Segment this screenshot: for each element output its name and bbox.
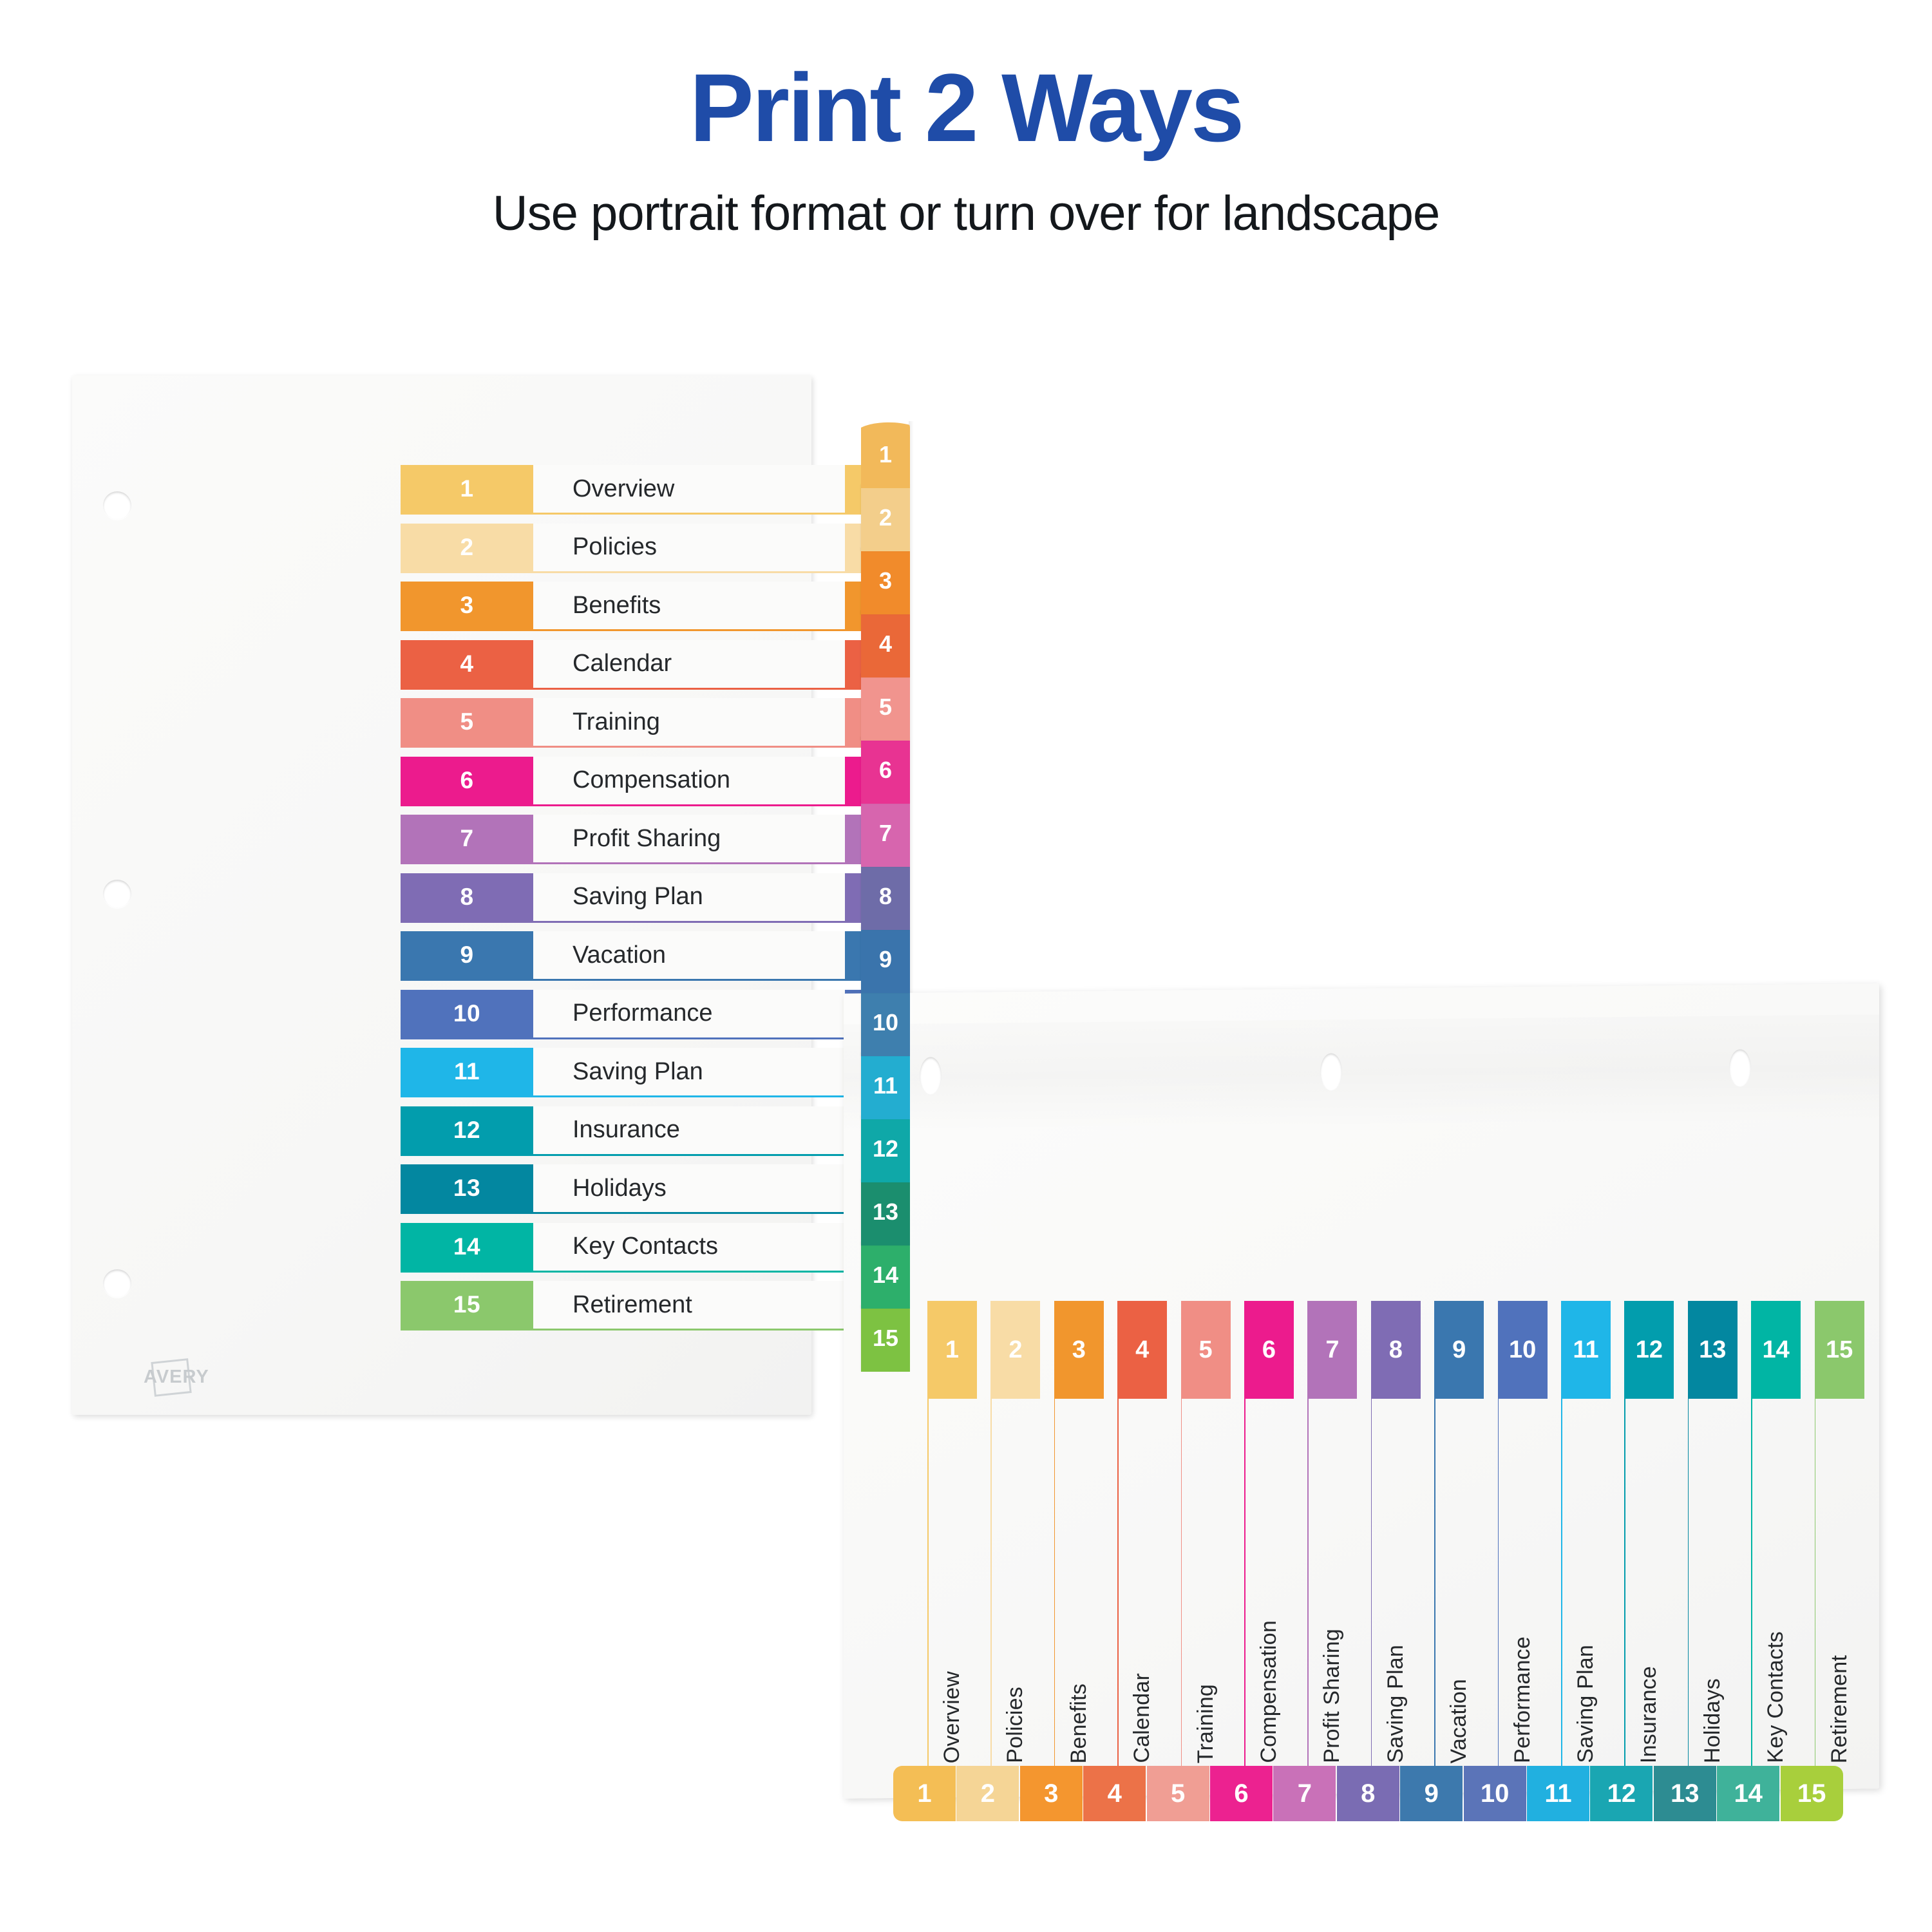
- toc-row-number: 5: [401, 698, 533, 746]
- toc-row-label-area: Retirement: [533, 1281, 864, 1329]
- landscape-column-label: Saving Plan: [1371, 1399, 1421, 1771]
- portrait-edge-tab[interactable]: 15: [861, 1305, 910, 1372]
- toc-row-label-area: Compensation: [533, 757, 864, 804]
- toc-row-label: Holidays: [573, 1164, 667, 1212]
- toc-row-rule: [401, 1329, 864, 1331]
- toc-row[interactable]: 11Saving Plan: [401, 1048, 864, 1106]
- toc-row-rule: [401, 688, 864, 690]
- toc-row-label-area: Saving Plan: [533, 873, 864, 921]
- landscape-column-number: 1: [927, 1301, 977, 1399]
- landscape-strip-tab[interactable]: 6: [1210, 1766, 1273, 1821]
- landscape-column-number: 3: [1054, 1301, 1104, 1399]
- landscape-column-label-text: Key Contacts: [1763, 1631, 1788, 1763]
- toc-row[interactable]: 7Profit Sharing: [401, 815, 864, 873]
- landscape-column-tab[interactable]: 3Benefits: [1054, 1301, 1104, 1771]
- toc-row[interactable]: 8Saving Plan: [401, 873, 864, 932]
- landscape-strip-tab[interactable]: 12: [1590, 1766, 1653, 1821]
- toc-row[interactable]: 9Vacation: [401, 931, 864, 990]
- toc-row-number: 6: [401, 757, 533, 804]
- landscape-column-label-text: Training: [1193, 1684, 1218, 1763]
- toc-row-rule: [401, 746, 864, 748]
- toc-row-label: Key Contacts: [573, 1223, 718, 1271]
- toc-row-rule: [401, 1212, 864, 1214]
- portrait-edge-tab[interactable]: 2: [861, 484, 910, 551]
- toc-row-number: 15: [401, 1281, 533, 1329]
- landscape-strip-tab[interactable]: 1: [893, 1766, 956, 1821]
- portrait-edge-tab[interactable]: 9: [861, 926, 910, 993]
- landscape-column-number: 6: [1244, 1301, 1294, 1399]
- landscape-strip-tab[interactable]: 9: [1400, 1766, 1463, 1821]
- landscape-column-tab[interactable]: 14Key Contacts: [1751, 1301, 1801, 1771]
- toc-row-label-area: Policies: [533, 524, 864, 571]
- toc-row-rule: [401, 862, 864, 864]
- toc-row[interactable]: 10Performance: [401, 990, 864, 1048]
- avery-logo-text: AVERY: [144, 1367, 220, 1388]
- portrait-edge-tab[interactable]: 5: [861, 674, 910, 741]
- portrait-edge-tab[interactable]: 13: [861, 1179, 910, 1245]
- landscape-column-tabs: 1Overview2Policies3Benefits4Calendar5Tra…: [927, 1301, 1880, 1771]
- toc-row-number: 1: [401, 465, 533, 513]
- portrait-edge-tab[interactable]: 1: [861, 421, 910, 488]
- toc-row-label: Benefits: [573, 582, 661, 629]
- toc-row-rule: [401, 1271, 864, 1273]
- portrait-edge-tab[interactable]: 4: [861, 611, 910, 677]
- toc-row-rule: [401, 804, 864, 806]
- toc-row-label-area: Holidays: [533, 1164, 864, 1212]
- landscape-column-number: 8: [1371, 1301, 1421, 1399]
- toc-row[interactable]: 12Insurance: [401, 1106, 864, 1165]
- landscape-column-number: 15: [1815, 1301, 1864, 1399]
- landscape-strip-tab[interactable]: 11: [1527, 1766, 1589, 1821]
- landscape-column-label: Insurance: [1624, 1399, 1674, 1771]
- landscape-strip-tab[interactable]: 3: [1020, 1766, 1083, 1821]
- toc-row-label: Overview: [573, 465, 674, 513]
- landscape-column-label-text: Vacation: [1446, 1679, 1472, 1763]
- landscape-column-number: 9: [1434, 1301, 1484, 1399]
- toc-row-label: Calendar: [573, 640, 672, 688]
- toc-row-label-area: Vacation: [533, 931, 864, 979]
- toc-row-label: Retirement: [573, 1281, 692, 1329]
- toc-row-number: 8: [401, 873, 533, 921]
- toc-row-label: Vacation: [573, 931, 666, 979]
- toc-row-number: 13: [401, 1164, 533, 1212]
- toc-row-number: 7: [401, 815, 533, 862]
- landscape-column-label: Profit Sharing: [1307, 1399, 1357, 1771]
- toc-row[interactable]: 15Retirement: [401, 1281, 864, 1340]
- landscape-column-tab[interactable]: 11Saving Plan: [1561, 1301, 1611, 1771]
- toc-row-label: Saving Plan: [573, 1048, 703, 1095]
- portrait-edge-tab[interactable]: 12: [861, 1115, 910, 1182]
- toc-row-rule: [401, 921, 864, 923]
- landscape-column-tab[interactable]: 4Calendar: [1117, 1301, 1167, 1771]
- toc-row-label: Policies: [573, 524, 657, 571]
- toc-row-rule: [401, 513, 864, 515]
- landscape-column-tab[interactable]: 6Compensation: [1244, 1301, 1294, 1771]
- landscape-strip-tab[interactable]: 2: [956, 1766, 1019, 1821]
- toc-row-rule: [401, 1037, 864, 1039]
- portrait-edge-tab[interactable]: 14: [861, 1242, 910, 1309]
- landscape-column-tab[interactable]: 8Saving Plan: [1371, 1301, 1421, 1771]
- landscape-column-label: Policies: [990, 1399, 1040, 1771]
- landscape-column-number: 13: [1688, 1301, 1738, 1399]
- binder-hole-landscape-center: [1320, 1053, 1342, 1090]
- toc-row-label: Saving Plan: [573, 873, 703, 921]
- landscape-column-label: Saving Plan: [1561, 1399, 1611, 1771]
- landscape-column-tab[interactable]: 9Vacation: [1434, 1301, 1484, 1771]
- landscape-column-label: Holidays: [1688, 1399, 1738, 1771]
- landscape-strip-tab[interactable]: 4: [1083, 1766, 1146, 1821]
- portrait-edge-tab[interactable]: 10: [861, 989, 910, 1056]
- landscape-column-label: Benefits: [1054, 1399, 1104, 1771]
- toc-row[interactable]: 2Policies: [401, 524, 864, 582]
- toc-row-rule: [401, 1154, 864, 1156]
- landscape-column-label-text: Holidays: [1700, 1678, 1725, 1763]
- toc-row-label: Training: [573, 698, 660, 746]
- landscape-column-label: Performance: [1498, 1399, 1548, 1771]
- toc-row-label-area: Saving Plan: [533, 1048, 864, 1095]
- toc-row-number: 14: [401, 1223, 533, 1271]
- landscape-column-number: 14: [1751, 1301, 1801, 1399]
- toc-row-label: Performance: [573, 990, 713, 1037]
- landscape-column-tab[interactable]: 1Overview: [927, 1301, 977, 1771]
- landscape-column-number: 11: [1561, 1301, 1611, 1399]
- toc-row-label-area: Profit Sharing: [533, 815, 864, 862]
- toc-row-label-area: Key Contacts: [533, 1223, 864, 1271]
- toc-row-number: 9: [401, 931, 533, 979]
- landscape-column-label: Retirement: [1815, 1399, 1864, 1771]
- landscape-bottom-tab-strip: 123456789101112131415: [893, 1766, 1846, 1833]
- toc-row-number: 2: [401, 524, 533, 571]
- toc-row-rule: [401, 629, 864, 631]
- toc-row[interactable]: 13Holidays: [401, 1164, 864, 1223]
- portrait-edge-tab[interactable]: 8: [861, 863, 910, 930]
- binder-hole-portrait-bottom: [103, 1269, 131, 1298]
- landscape-column-tab[interactable]: 13Holidays: [1688, 1301, 1738, 1771]
- landscape-column-label-text: Compensation: [1256, 1620, 1282, 1763]
- landscape-column-label-text: Saving Plan: [1573, 1645, 1598, 1763]
- avery-logo: AVERY: [138, 1359, 222, 1394]
- landscape-strip-tab[interactable]: 7: [1273, 1766, 1336, 1821]
- toc-row-number: 4: [401, 640, 533, 688]
- landscape-strip-tab[interactable]: 10: [1464, 1766, 1526, 1821]
- toc-row-rule: [401, 1095, 864, 1097]
- landscape-column-number: 4: [1117, 1301, 1167, 1399]
- toc-row-label: Profit Sharing: [573, 815, 721, 862]
- toc-row-number: 11: [401, 1048, 533, 1095]
- landscape-column-label: Vacation: [1434, 1399, 1484, 1771]
- header: Print 2 Ways Use portrait format or turn…: [0, 0, 1932, 238]
- toc-row[interactable]: 1Overview: [401, 465, 864, 524]
- toc-row-label-area: Overview: [533, 465, 864, 513]
- landscape-column-label-text: Insurance: [1636, 1666, 1662, 1763]
- portrait-edge-tab[interactable]: 11: [861, 1052, 910, 1119]
- toc-row[interactable]: 5Training: [401, 698, 864, 757]
- landscape-column-label-text: Profit Sharing: [1320, 1629, 1345, 1763]
- binder-hole-landscape-right: [1729, 1049, 1751, 1086]
- landscape-column-label-text: Calendar: [1130, 1673, 1155, 1763]
- landscape-column-label-text: Performance: [1510, 1636, 1535, 1763]
- toc-row[interactable]: 4Calendar: [401, 640, 864, 699]
- landscape-column-number: 12: [1624, 1301, 1674, 1399]
- toc-row-label: Insurance: [573, 1106, 680, 1154]
- toc-row-label-area: Insurance: [533, 1106, 864, 1154]
- landscape-column-label: Key Contacts: [1751, 1399, 1801, 1771]
- toc-row-label: Compensation: [573, 757, 730, 804]
- page-title: Print 2 Ways: [0, 59, 1932, 156]
- landscape-column-label-text: Retirement: [1827, 1655, 1852, 1763]
- toc-row-label-area: Training: [533, 698, 864, 746]
- landscape-strip-tab[interactable]: 8: [1337, 1766, 1399, 1821]
- binder-hole-portrait-middle: [103, 880, 131, 908]
- landscape-column-label-text: Overview: [940, 1671, 965, 1763]
- toc-row-number: 3: [401, 582, 533, 629]
- landscape-column-tab[interactable]: 7Profit Sharing: [1307, 1301, 1357, 1771]
- landscape-column-number: 5: [1181, 1301, 1231, 1399]
- landscape-column-label: Overview: [927, 1399, 977, 1771]
- landscape-strip-tab[interactable]: 5: [1147, 1766, 1209, 1821]
- toc-row-number: 10: [401, 990, 533, 1037]
- binder-hole-landscape-left: [920, 1057, 942, 1094]
- toc-row[interactable]: 14Key Contacts: [401, 1223, 864, 1282]
- portrait-table-of-contents: 1Overview2Policies3Benefits4Calendar5Tra…: [401, 465, 864, 1340]
- landscape-column-label-text: Policies: [1003, 1687, 1028, 1763]
- landscape-column-number: 2: [990, 1301, 1040, 1399]
- landscape-column-number: 7: [1307, 1301, 1357, 1399]
- toc-row-label-area: Benefits: [533, 582, 864, 629]
- landscape-strip-tab[interactable]: 14: [1717, 1766, 1779, 1821]
- landscape-column-number: 10: [1498, 1301, 1548, 1399]
- portrait-edge-tab[interactable]: 3: [861, 547, 910, 614]
- landscape-column-tab[interactable]: 5Training: [1181, 1301, 1231, 1771]
- toc-row-rule: [401, 979, 864, 981]
- landscape-sheet-shading: [844, 1014, 1879, 1132]
- landscape-strip-tab[interactable]: 13: [1654, 1766, 1716, 1821]
- page-subtitle: Use portrait format or turn over for lan…: [0, 189, 1932, 238]
- toc-row[interactable]: 6Compensation: [401, 757, 864, 815]
- toc-row[interactable]: 3Benefits: [401, 582, 864, 640]
- toc-row-rule: [401, 571, 864, 573]
- landscape-column-label: Compensation: [1244, 1399, 1294, 1771]
- binder-hole-portrait-top: [103, 491, 131, 520]
- landscape-column-tab[interactable]: 12Insurance: [1624, 1301, 1674, 1771]
- landscape-column-tab[interactable]: 2Policies: [990, 1301, 1040, 1771]
- toc-row-label-area: Performance: [533, 990, 864, 1037]
- landscape-column-label-text: Saving Plan: [1383, 1645, 1408, 1763]
- portrait-edge-tab[interactable]: 6: [861, 737, 910, 804]
- landscape-column-label: Calendar: [1117, 1399, 1167, 1771]
- landscape-column-tab[interactable]: 15Retirement: [1815, 1301, 1864, 1771]
- toc-row-label-area: Calendar: [533, 640, 864, 688]
- landscape-column-label-text: Benefits: [1066, 1683, 1092, 1763]
- landscape-column-label: Training: [1181, 1399, 1231, 1771]
- portrait-edge-tab[interactable]: 7: [861, 800, 910, 867]
- landscape-strip-tab[interactable]: 15: [1781, 1766, 1843, 1821]
- toc-row-number: 12: [401, 1106, 533, 1154]
- portrait-edge-tab-stack: 123456789101112131415: [861, 421, 910, 1368]
- landscape-column-tab[interactable]: 10Performance: [1498, 1301, 1548, 1771]
